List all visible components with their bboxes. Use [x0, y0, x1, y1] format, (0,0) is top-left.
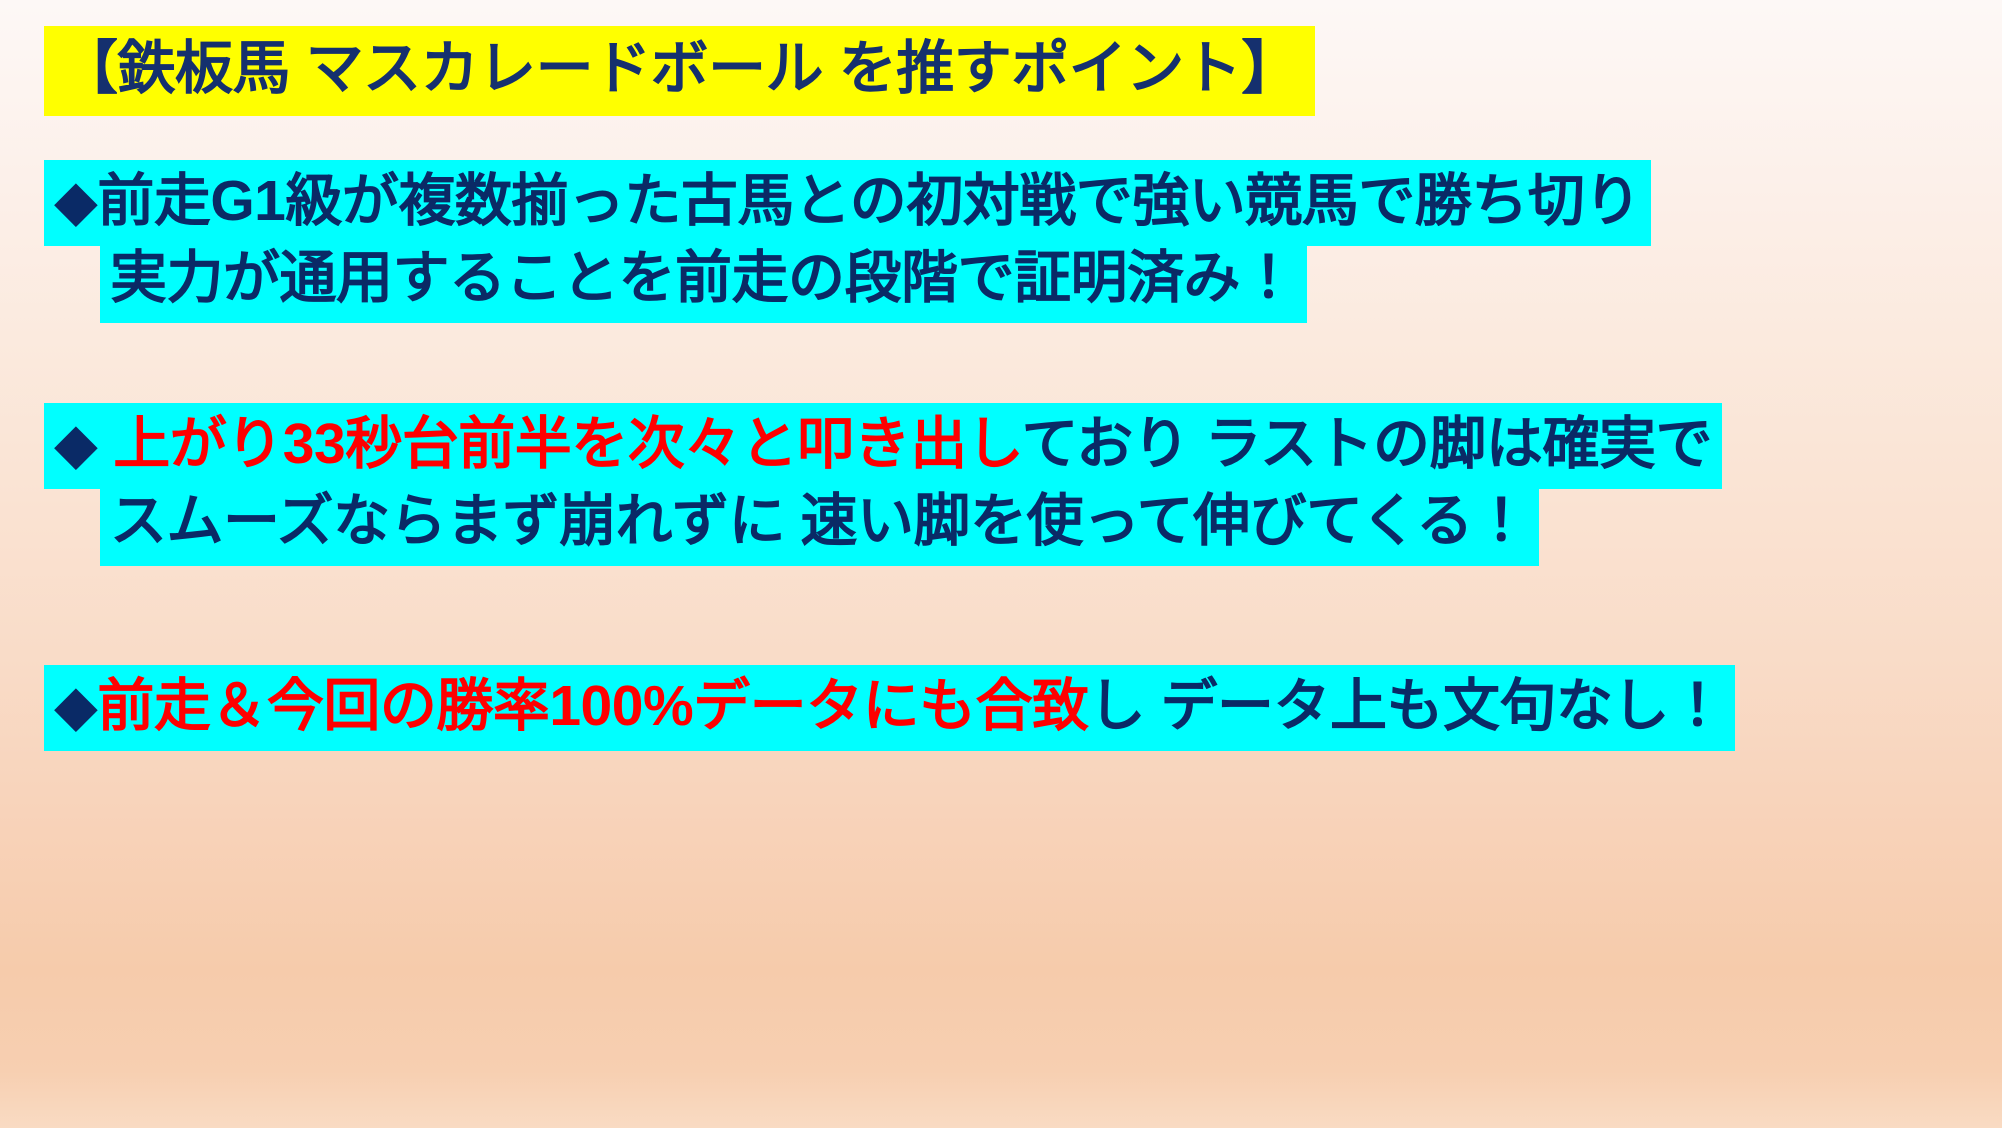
- bullet-1-line-2: 実力が通用することを前走の段階で証明済み！: [100, 237, 1307, 323]
- bullet-2-line-2: スムーズならまず崩れずに 速い脚を使って伸びてくる！: [100, 480, 1539, 566]
- slide-title: 【鉄板馬 マスカレードボール を推すポイント】: [44, 26, 1315, 116]
- bullet-2-line-1-text-red: 上がり33秒台前半を次々と叩き出し: [113, 412, 1021, 476]
- bullet-2-line-2-text: スムーズならまず崩れずに 速い脚を使って伸びてくる！: [110, 489, 1529, 553]
- slide-canvas: 【鉄板馬 マスカレードボール を推すポイント】 ◆前走G1級が複数揃った古馬との…: [0, 0, 2002, 1128]
- bullet-3-line-1-text-red: 前走＆今回の勝率100%データにも合致: [97, 674, 1088, 738]
- diamond-icon: ◆: [54, 169, 97, 233]
- bullet-3-line-1: ◆前走＆今回の勝率100%データにも合致し データ上も文句なし！: [44, 665, 1735, 751]
- bullet-3-line-1-text-navy: し データ上も文句なし！: [1089, 674, 1726, 738]
- bullet-2-line-1-text-navy: ており ラストの脚は確実で: [1022, 412, 1713, 476]
- bullet-1-line-1: ◆前走G1級が複数揃った古馬との初対戦で強い競馬で勝ち切り: [44, 160, 1651, 246]
- bullet-1-line-1-text: 前走G1級が複数揃った古馬との初対戦で強い競馬で勝ち切り: [97, 169, 1640, 233]
- bullet-1-line-2-text: 実力が通用することを前走の段階で証明済み！: [110, 246, 1297, 310]
- diamond-icon: ◆: [54, 674, 97, 738]
- bullet-2-line-1: ◆上がり33秒台前半を次々と叩き出しており ラストの脚は確実で: [44, 403, 1722, 489]
- diamond-icon: ◆: [54, 412, 97, 476]
